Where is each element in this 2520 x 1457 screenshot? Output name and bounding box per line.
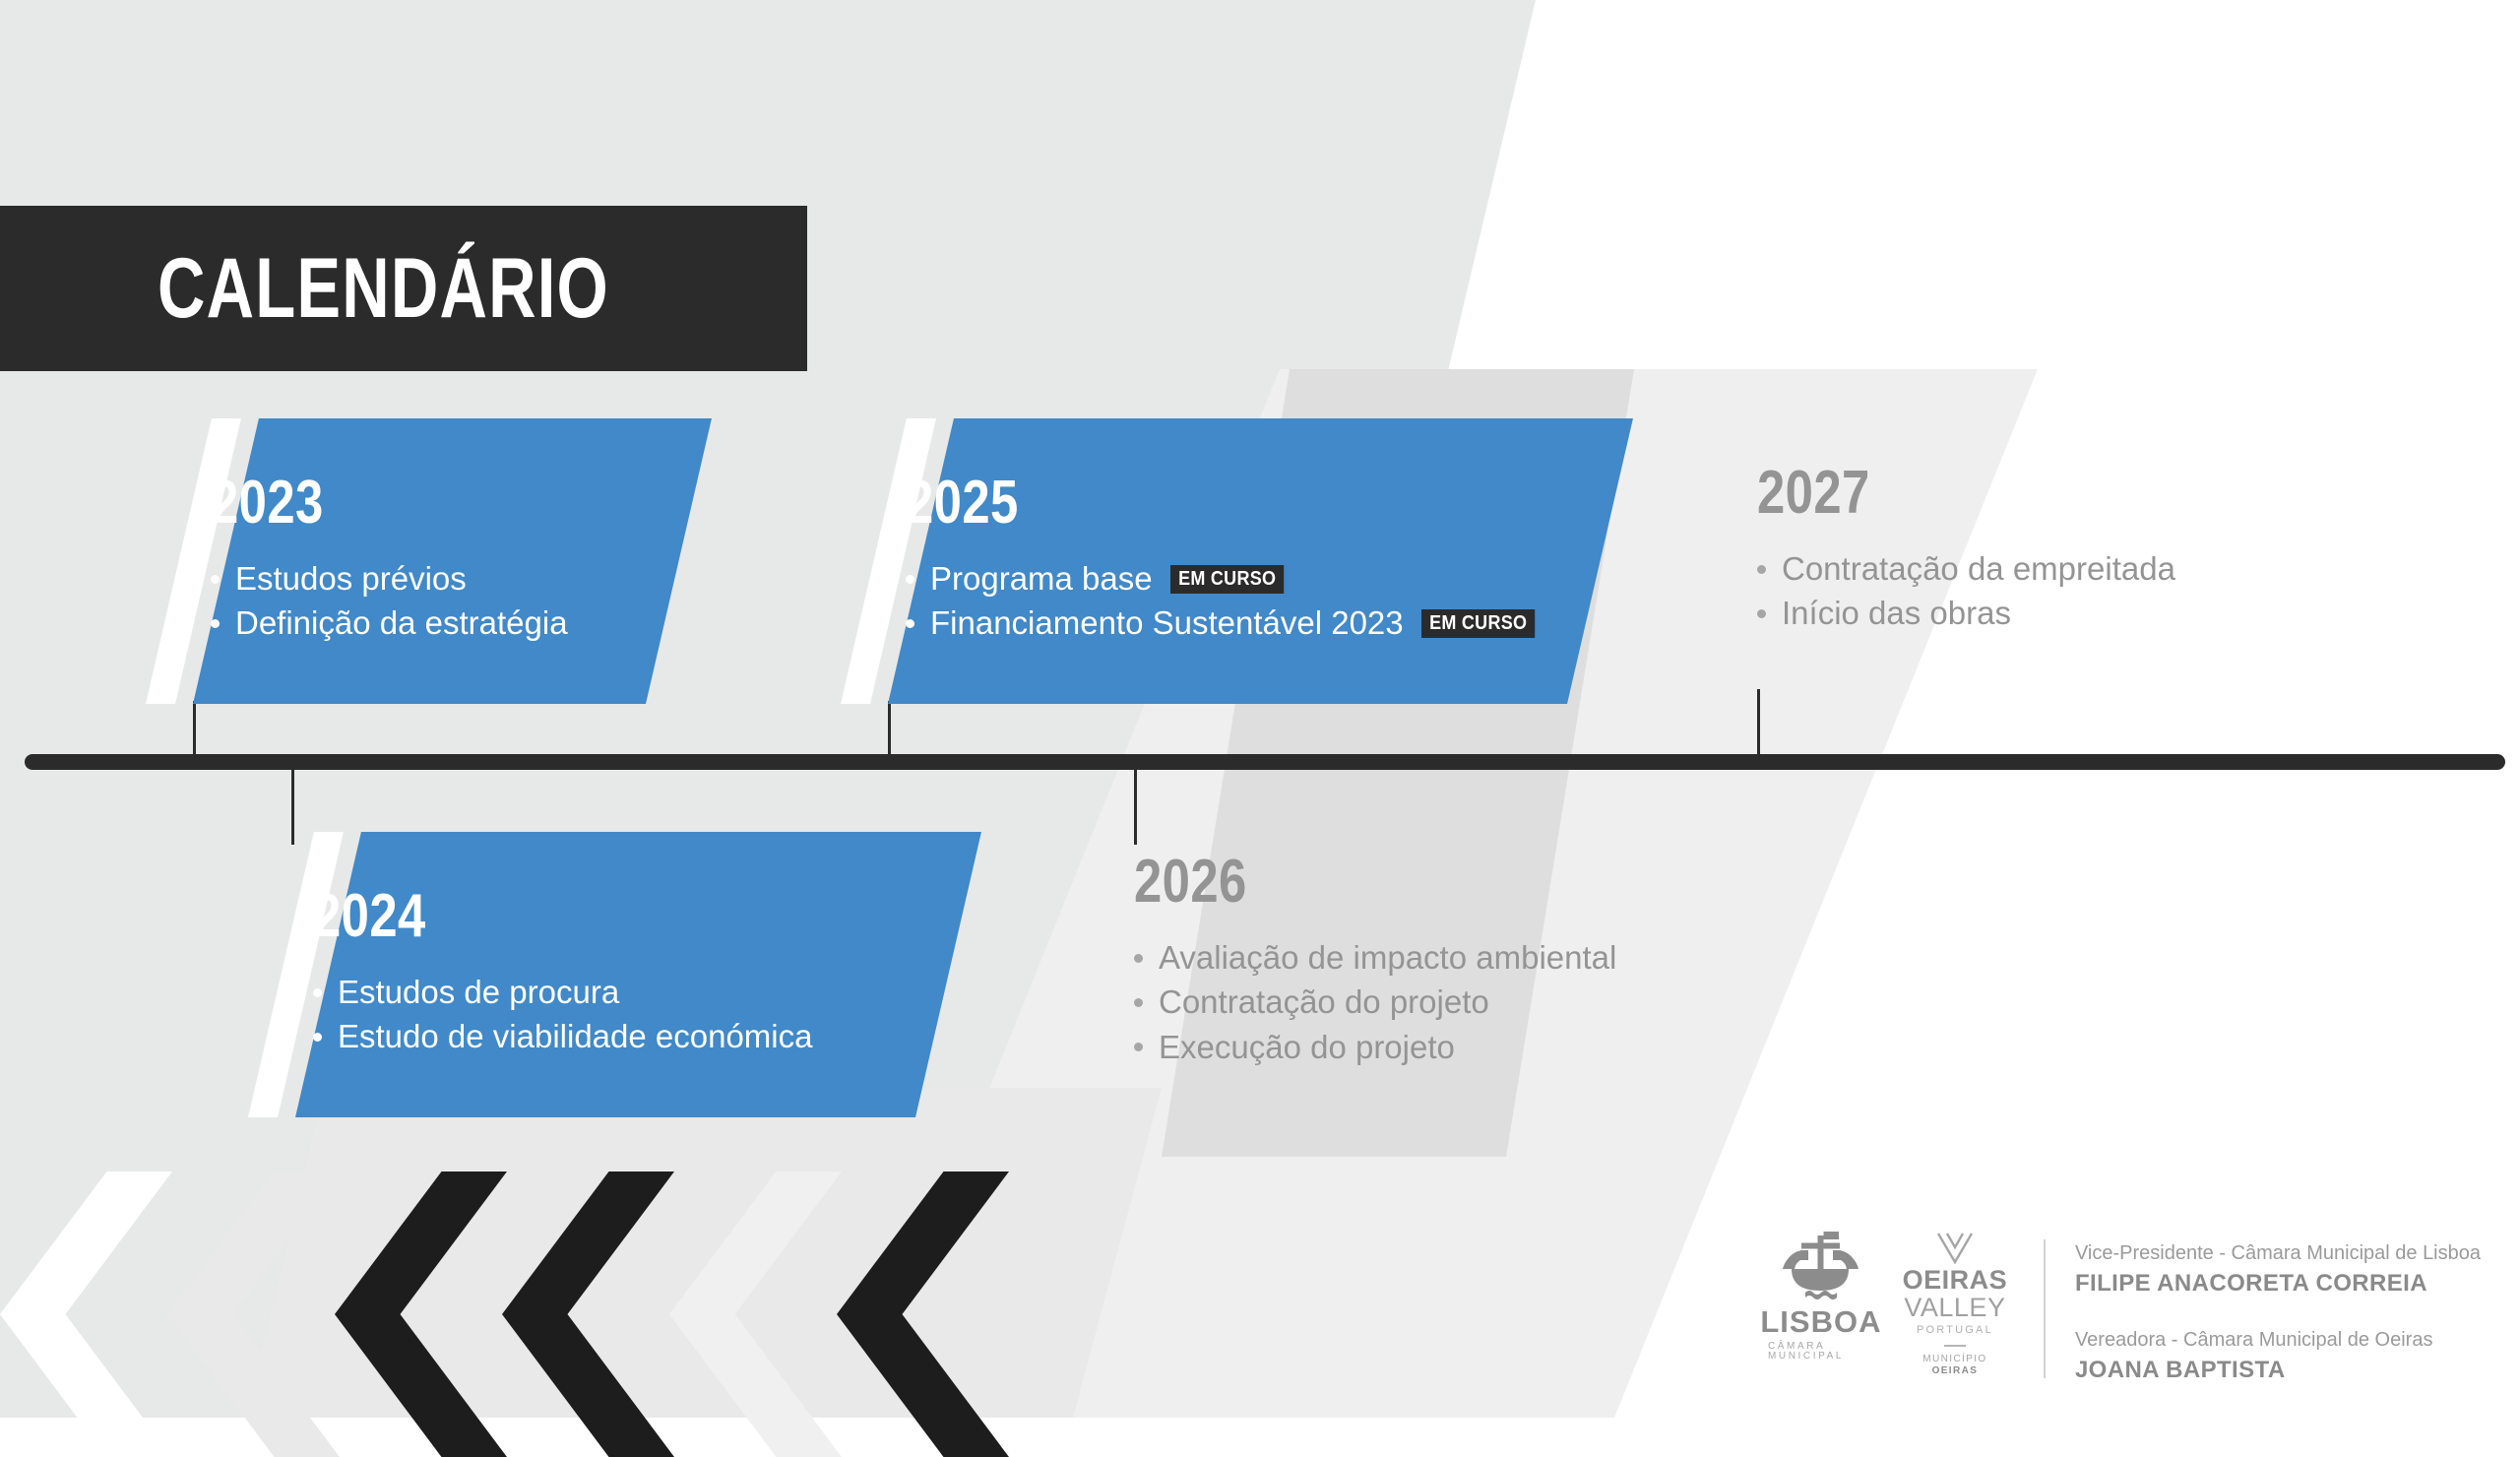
chevron-shape <box>837 1172 1009 1457</box>
timeline-tick-2027 <box>1757 689 1760 760</box>
oeiras-line3: PORTUGAL <box>1917 1325 1993 1336</box>
list-item: Estudos prévios <box>211 559 646 599</box>
footer-credits: Vice-Presidente - Câmara Municipal de Li… <box>2075 1232 2481 1386</box>
item-text: Início das obras <box>1782 594 2011 633</box>
bullet-dot-icon <box>1134 1043 1143 1051</box>
item-text: Execução do projeto <box>1159 1028 1455 1067</box>
lisboa-ship-crest-icon <box>1776 1232 1866 1302</box>
chevron-icon <box>0 1172 172 1457</box>
item-text: Avaliação de impacto ambiental <box>1159 938 1616 978</box>
timeline-tick-2025 <box>888 701 891 760</box>
chevron-shape <box>0 1172 172 1457</box>
chevron-icon <box>167 1172 340 1457</box>
milestone-block-2026: 2026 Avaliação de impacto ambiental Cont… <box>1134 852 1616 1072</box>
list-item: Financiamento Sustentável 2023 EM CURSO <box>906 603 1567 643</box>
item-text: Definição da estratégia <box>235 603 568 643</box>
item-text: Estudo de viabilidade económica <box>338 1017 812 1056</box>
oeiras-valley-v-icon <box>1935 1232 1975 1265</box>
page-title: CALENDÁRIO <box>157 246 609 331</box>
footer-divider <box>2044 1239 2046 1378</box>
list-item: Avaliação de impacto ambiental <box>1134 938 1616 978</box>
list-item: Início das obras <box>1757 594 2175 633</box>
milestone-card-2025[interactable]: 2025 Programa base EM CURSO Financiament… <box>888 418 1567 704</box>
milestone-block-2027: 2027 Contratação da empreitada Início da… <box>1757 463 2175 639</box>
chevron-shape <box>669 1172 842 1457</box>
milestone-items-2023: Estudos prévios Definição da estratégia <box>211 559 646 644</box>
list-item: Contratação da empreitada <box>1757 549 2175 589</box>
list-item: Contratação do projeto <box>1134 982 1616 1022</box>
credit-role: Vice-Presidente - Câmara Municipal de Li… <box>2075 1239 2481 1268</box>
milestone-year-2023: 2023 <box>211 473 567 534</box>
timeline-axis <box>25 754 2505 770</box>
list-item: Estudos de procura <box>313 973 915 1012</box>
list-item: Execução do projeto <box>1134 1028 1616 1067</box>
item-text: Contratação do projeto <box>1159 982 1489 1022</box>
milestone-year-2027: 2027 <box>1757 463 2100 524</box>
lisboa-logo: LISBOA CÂMARA MUNICIPAL <box>1768 1232 1874 1362</box>
milestone-items-2024: Estudos de procura Estudo de viabilidade… <box>313 973 915 1057</box>
bullet-dot-icon <box>1757 565 1766 574</box>
milestone-year-2025: 2025 <box>906 473 1448 534</box>
credit-role: Vereadora - Câmara Municipal de Oeiras <box>2075 1326 2481 1355</box>
oeiras-valley-logo: OEIRAS VALLEY PORTUGAL MUNICÍPIO OEIRAS <box>1892 1232 2018 1377</box>
chevron-icon <box>335 1172 507 1457</box>
milestone-year-2024: 2024 <box>313 886 807 947</box>
item-text: Financiamento Sustentável 2023 <box>930 603 1404 643</box>
item-text: Estudos prévios <box>235 559 467 599</box>
status-badge: EM CURSO <box>1170 565 1284 594</box>
status-badge: EM CURSO <box>1421 609 1535 638</box>
milestone-items-2027: Contratação da empreitada Início das obr… <box>1757 549 2175 634</box>
bullet-dot-icon <box>1134 998 1143 1007</box>
list-item: Definição da estratégia <box>211 603 646 643</box>
bullet-dot-icon <box>211 619 220 628</box>
oeiras-divider-rule <box>1944 1345 1966 1347</box>
chevron-shape <box>335 1172 507 1457</box>
oeiras-line4: MUNICÍPIO <box>1922 1354 1986 1366</box>
lisboa-subtitle: CÂMARA MUNICIPAL <box>1768 1342 1874 1362</box>
timeline-tick-2024 <box>291 766 294 845</box>
oeiras-line2: VALLEY <box>1904 1294 2005 1321</box>
item-text: Contratação da empreitada <box>1782 549 2175 589</box>
bullet-dot-icon <box>1757 609 1766 618</box>
milestone-card-2023[interactable]: 2023 Estudos prévios Definição da estrat… <box>193 418 646 704</box>
timeline-tick-2023 <box>193 701 196 760</box>
credit-name: JOANA BAPTISTA <box>2075 1355 2481 1386</box>
page-title-block: CALENDÁRIO <box>0 206 807 371</box>
item-text: Programa base <box>930 559 1153 599</box>
milestone-year-2026: 2026 <box>1134 852 1530 913</box>
oeiras-line5: OEIRAS <box>1932 1365 1979 1378</box>
chevron-decoration-group <box>0 1191 1398 1418</box>
chevron-icon <box>837 1172 1009 1457</box>
oeiras-line1: OEIRAS <box>1903 1267 2008 1294</box>
bullet-dot-icon <box>906 619 914 628</box>
list-item: Estudo de viabilidade económica <box>313 1017 915 1056</box>
chevron-shape <box>167 1172 340 1457</box>
bullet-dot-icon <box>906 575 914 584</box>
lisboa-wordmark: LISBOA <box>1760 1306 1881 1337</box>
milestone-items-2026: Avaliação de impacto ambiental Contrataç… <box>1134 938 1616 1067</box>
footer: LISBOA CÂMARA MUNICIPAL OEIRAS VALLEY PO… <box>1768 1232 2481 1386</box>
bullet-dot-icon <box>313 988 322 997</box>
milestone-items-2025: Programa base EM CURSO Financiamento Sus… <box>906 559 1567 644</box>
chevron-icon <box>669 1172 842 1457</box>
list-item: Programa base EM CURSO <box>906 559 1567 599</box>
chevron-icon <box>502 1172 674 1457</box>
item-text: Estudos de procura <box>338 973 619 1012</box>
credit-name: FILIPE ANACORETA CORREIA <box>2075 1268 2481 1299</box>
bullet-dot-icon <box>313 1033 322 1042</box>
milestone-card-2024[interactable]: 2024 Estudos de procura Estudo de viabil… <box>295 832 915 1117</box>
timeline-tick-2026 <box>1134 766 1137 845</box>
chevron-shape <box>502 1172 674 1457</box>
bullet-dot-icon <box>211 575 220 584</box>
bullet-dot-icon <box>1134 954 1143 963</box>
